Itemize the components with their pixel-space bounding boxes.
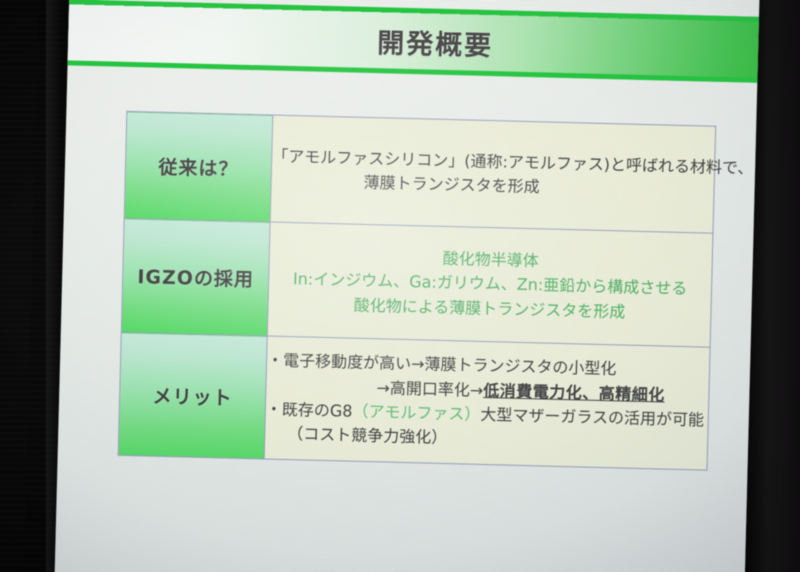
row-content-igzo: 酸化物半導体 In:インジウム、Ga:ガリウム、Zn:亜鉛から構成させる 酸化物… <box>267 222 713 347</box>
page-title: 開発概要 <box>68 0 759 83</box>
row-content-conventional: 「アモルファスシリコン」(通称:アモルファス)と呼ばれる材料で、 薄膜トランジス… <box>270 115 716 233</box>
overview-table: 従来は？ 「アモルファスシリコン」(通称:アモルファス)と呼ばれる材料で、 薄膜… <box>118 111 717 471</box>
content-segment: →高開口率化→ <box>376 378 483 400</box>
content-segment: ・既存のG8 <box>266 399 353 420</box>
row-content-merit: ・電子移動度が高い→薄膜トランジスタの小型化 →高開口率化→低消費電力化、高精細… <box>264 336 710 470</box>
row-label-merit: メリット <box>118 332 267 459</box>
slide-title-banner: 開発概要 <box>68 0 759 83</box>
row-label-igzo: IGZOの採用 <box>121 218 270 336</box>
content-emphasis: 低消費電力化、高精細化 <box>483 381 665 405</box>
row-label-text: IGZOの採用 <box>137 266 254 291</box>
projected-slide-photo: 開発概要 従来は？ 「アモルファスシリコン」(通称:アモルファス)と呼ばれる材料… <box>0 0 800 572</box>
table-row: メリット ・電子移動度が高い→薄膜トランジスタの小型化 →高開口率化→低消費電力… <box>118 332 710 470</box>
content-segment: 大型マザーガラスの活用が可能 <box>480 405 704 430</box>
content-segment-green: （アモルファス） <box>352 402 480 424</box>
table-row: 従来は？ 「アモルファスシリコン」(通称:アモルファス)と呼ばれる材料で、 薄膜… <box>124 111 716 233</box>
row-label-text: 従来は？ <box>158 156 239 180</box>
row-label-text: メリット <box>152 385 233 409</box>
row-label-conventional: 従来は？ <box>124 111 273 222</box>
slide-surface: 開発概要 従来は？ 「アモルファスシリコン」(通称:アモルファス)と呼ばれる材料… <box>55 0 760 572</box>
table-row: IGZOの採用 酸化物半導体 In:インジウム、Ga:ガリウム、Zn:亜鉛から構… <box>121 218 713 347</box>
projection-screen: 開発概要 従来は？ 「アモルファスシリコン」(通称:アモルファス)と呼ばれる材料… <box>55 0 760 572</box>
